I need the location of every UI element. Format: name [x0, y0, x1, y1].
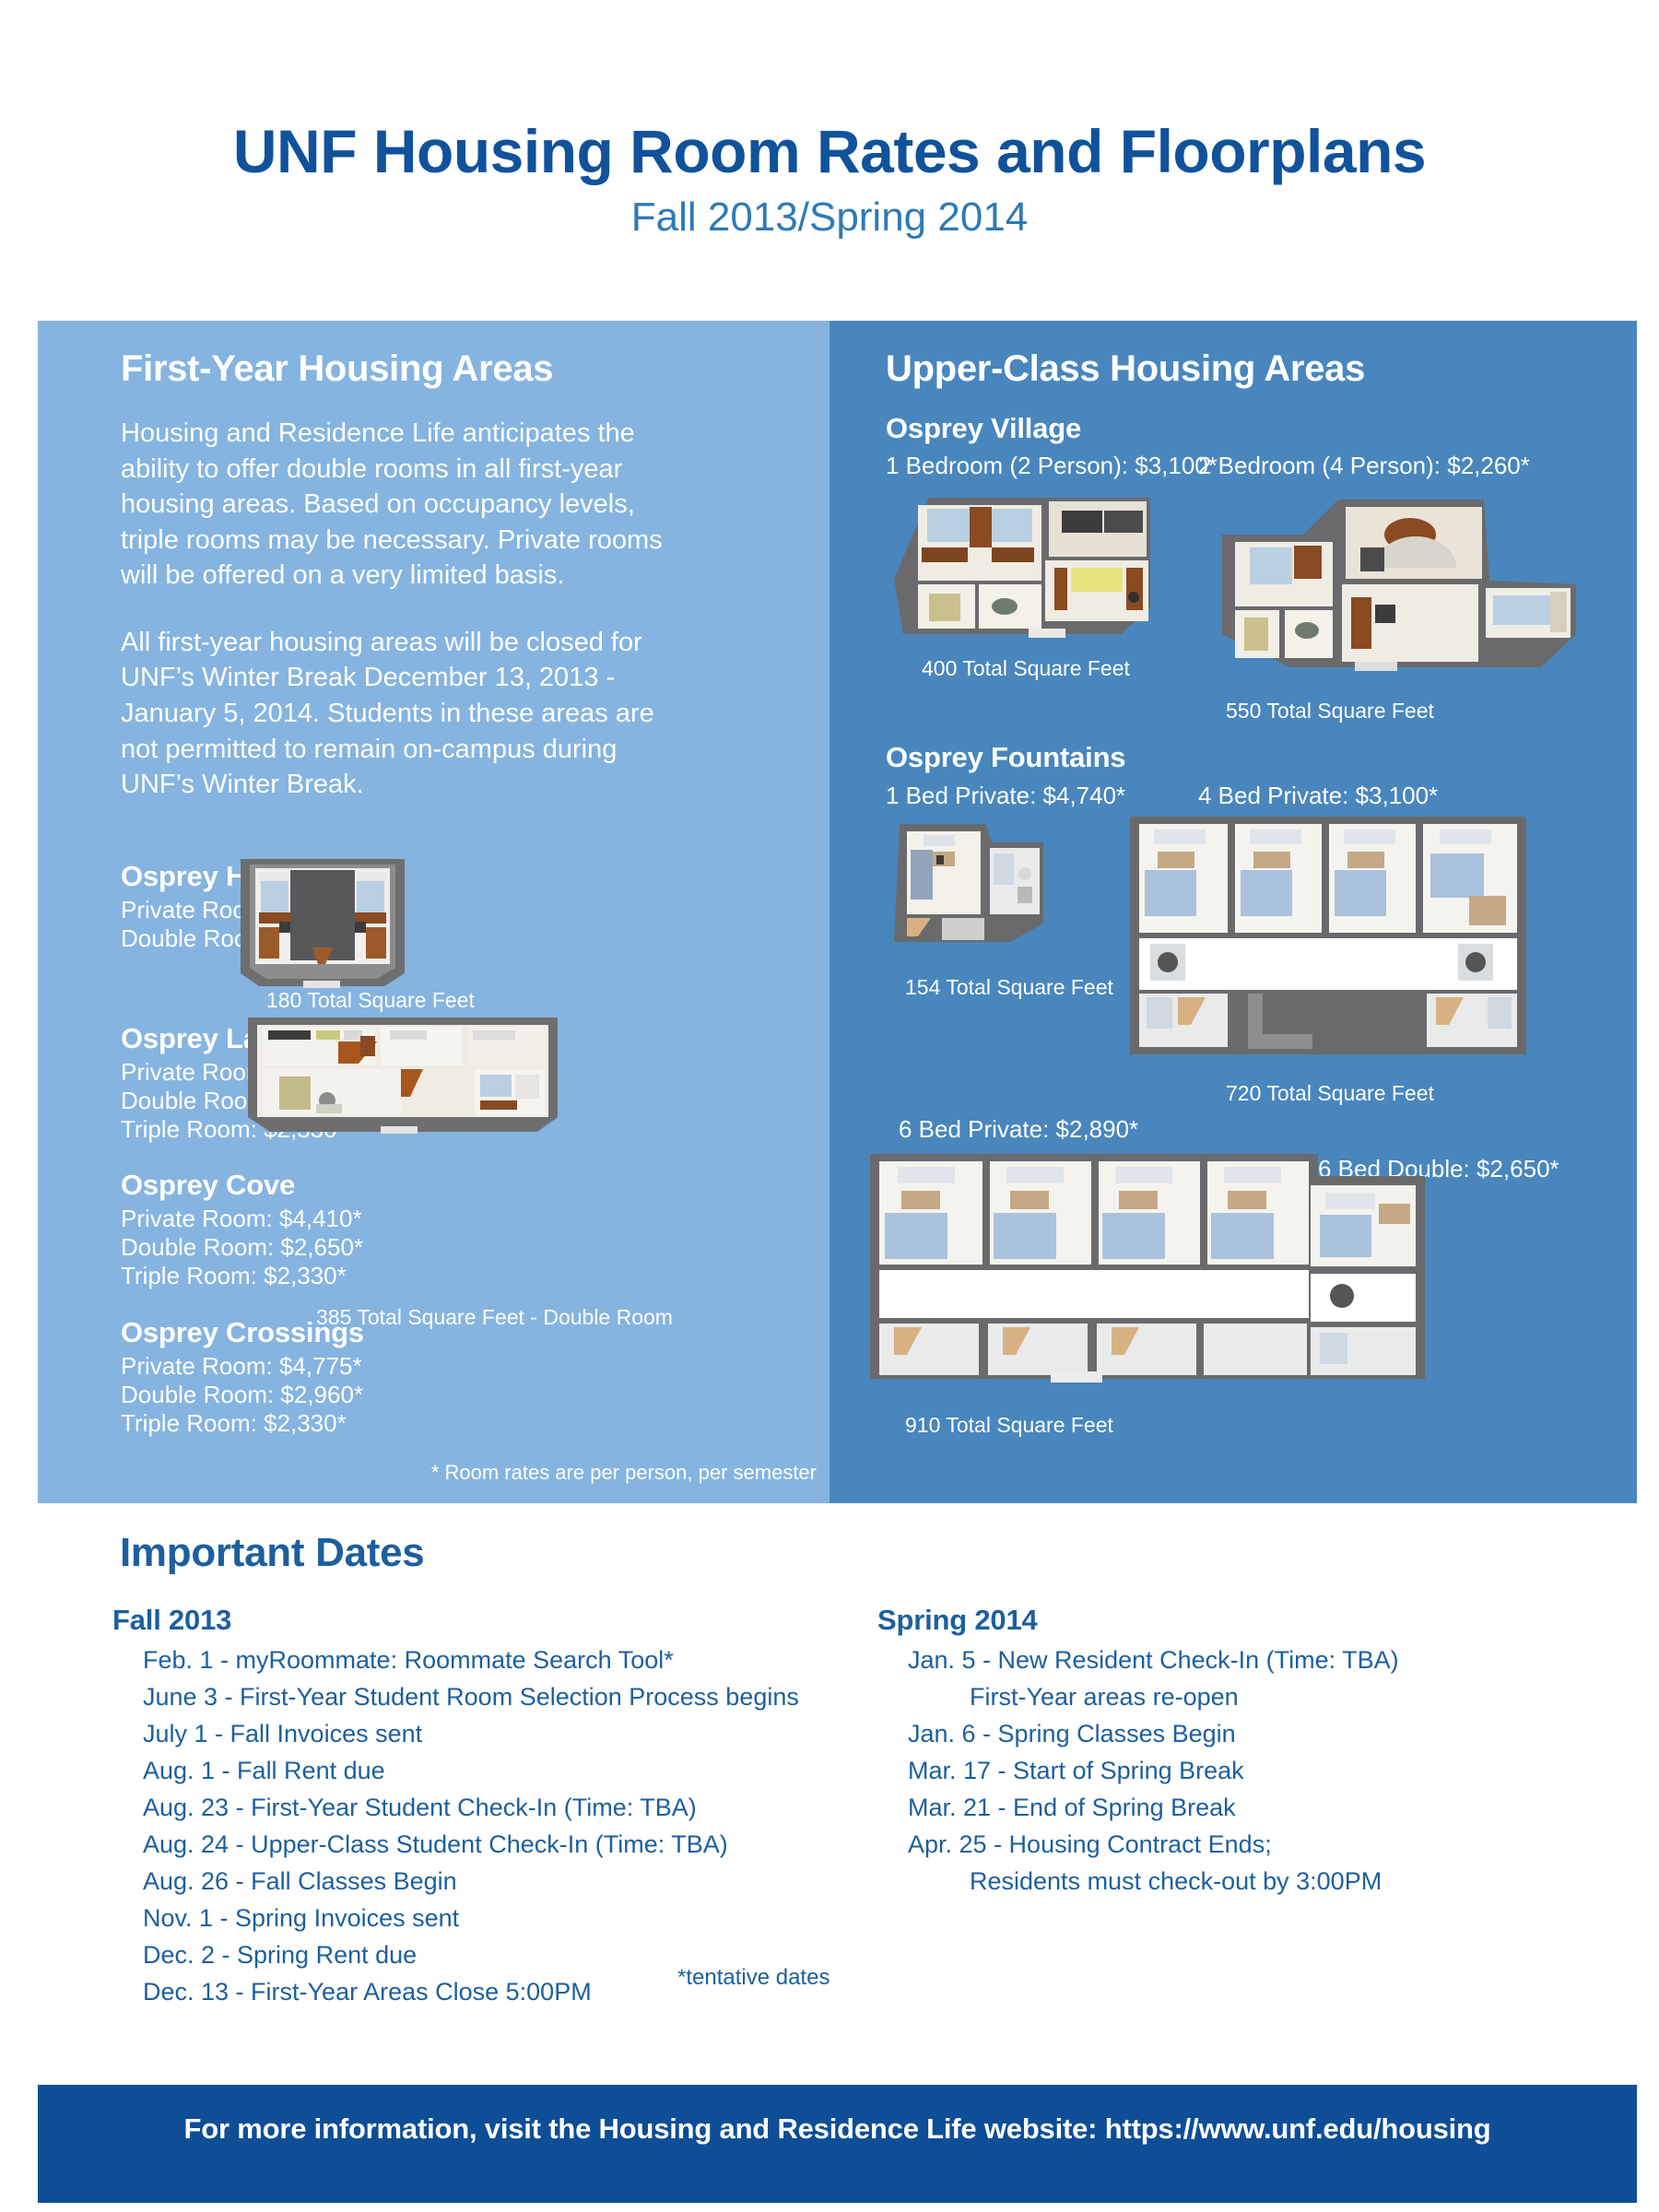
price-label-fountains-4bed: 4 Bed Private: $3,100*	[1198, 782, 1438, 810]
sqft-label-fountains-4bed: 720 Total Square Feet	[1226, 1081, 1434, 1106]
fall-dates-column: Fall 2013 Feb. 1 - myRoommate: Roommate …	[112, 1604, 841, 2011]
page-title: UNF Housing Room Rates and Floorplans	[0, 120, 1659, 183]
date-item: July 1 - Fall Invoices sent	[112, 1716, 841, 1753]
date-item: June 3 - First-Year Student Room Selecti…	[112, 1679, 841, 1716]
sqft-label-fountains-6bed: 910 Total Square Feet	[905, 1413, 1113, 1438]
sqft-label-fountains-1bed: 154 Total Square Feet	[905, 975, 1113, 1000]
date-item: Jan. 5 - New Resident Check-In (Time: TB…	[877, 1642, 1523, 1679]
price-label-village-2br: 2 Bedroom (4 Person): $2,260*	[1198, 452, 1530, 480]
date-item: Aug. 23 - First-Year Student Check-In (T…	[112, 1790, 841, 1827]
upper-class-heading: Upper-Class Housing Areas	[886, 348, 1365, 390]
first-year-panel: First-Year Housing Areas Housing and Res…	[38, 321, 829, 1503]
footer-bar: For more information, visit the Housing …	[38, 2085, 1637, 2203]
area-name: Osprey Cove	[121, 1169, 363, 1202]
footer-website-text[interactable]: For more information, visit the Housing …	[38, 2112, 1637, 2146]
floorplan-fountains-1bed	[890, 820, 1056, 959]
price-label-fountains-1bed: 1 Bed Private: $4,740*	[886, 782, 1125, 810]
sqft-label-osprey-landing: 385 Total Square Feet - Double Room	[316, 1305, 673, 1330]
area-rate: Triple Room: $2,330*	[121, 1262, 363, 1290]
date-item: First-Year areas re-open	[877, 1679, 1523, 1716]
floorplan-fountains-6bed	[866, 1150, 1429, 1405]
first-year-paragraph-2: All first-year housing areas will be clo…	[121, 625, 692, 803]
sqft-label-village-1br: 400 Total Square Feet	[922, 656, 1130, 681]
date-item: Aug. 26 - Fall Classes Begin	[112, 1864, 841, 1900]
area-name: Osprey Crossings	[121, 1316, 364, 1349]
rates-footnote: * Room rates are per person, per semeste…	[431, 1461, 817, 1485]
sqft-label-osprey-hall: 180 Total Square Feet	[266, 988, 475, 1013]
first-year-intro: Housing and Residence Life anticipates t…	[121, 416, 692, 803]
page-header: UNF Housing Room Rates and Floorplans Fa…	[0, 120, 1659, 239]
floorplan-fountains-4bed	[1126, 813, 1530, 1062]
first-year-heading: First-Year Housing Areas	[121, 348, 553, 390]
date-item: Mar. 21 - End of Spring Break	[877, 1790, 1523, 1827]
date-item: Nov. 1 - Spring Invoices sent	[112, 1900, 841, 1937]
date-item: Apr. 25 - Housing Contract Ends;	[877, 1827, 1523, 1864]
date-item: Mar. 17 - Start of Spring Break	[877, 1753, 1523, 1790]
floorplan-osprey-hall	[237, 852, 408, 992]
spring-term-title: Spring 2014	[877, 1604, 1523, 1637]
spring-dates-column: Spring 2014 Jan. 5 - New Resident Check-…	[877, 1604, 1523, 1900]
area-rate: Private Room: $4,775*	[121, 1352, 364, 1381]
date-item: Jan. 6 - Spring Classes Begin	[877, 1716, 1523, 1753]
date-item: Residents must check-out by 3:00PM	[877, 1864, 1523, 1900]
floorplan-osprey-landing	[242, 1014, 563, 1137]
date-item: Aug. 24 - Upper-Class Student Check-In (…	[112, 1827, 841, 1864]
date-item: Aug. 1 - Fall Rent due	[112, 1753, 841, 1790]
page-subtitle: Fall 2013/Spring 2014	[0, 196, 1659, 239]
housing-panels: First-Year Housing Areas Housing and Res…	[38, 321, 1637, 1503]
upper-class-panel: Upper-Class Housing Areas Osprey Village…	[829, 321, 1637, 1503]
floorplan-village-2br	[1180, 496, 1585, 686]
area-rate: Double Room: $2,650*	[121, 1233, 363, 1262]
tentative-dates-note: *tentative dates	[677, 1965, 829, 1991]
fall-term-title: Fall 2013	[112, 1604, 841, 1637]
floorplan-village-1br	[890, 494, 1158, 641]
area-rate: Double Room: $2,960*	[121, 1381, 364, 1409]
important-dates-title: Important Dates	[120, 1530, 424, 1576]
price-label-fountains-6bed-private: 6 Bed Private: $2,890*	[899, 1115, 1138, 1144]
community-name-osprey-village: Osprey Village	[886, 412, 1081, 445]
sqft-label-village-2br: 550 Total Square Feet	[1226, 699, 1434, 724]
first-year-paragraph-1: Housing and Residence Life anticipates t…	[121, 416, 692, 594]
date-item: Feb. 1 - myRoommate: Roommate Search Too…	[112, 1642, 841, 1679]
community-name-osprey-fountains: Osprey Fountains	[886, 741, 1125, 774]
area-osprey-cove: Osprey Cove Private Room: $4,410* Double…	[121, 1169, 363, 1291]
area-rate: Private Room: $4,410*	[121, 1205, 363, 1233]
area-osprey-crossings: Osprey Crossings Private Room: $4,775* D…	[121, 1316, 364, 1439]
area-rate: Triple Room: $2,330*	[121, 1409, 364, 1438]
price-label-village-1br: 1 Bedroom (2 Person): $3,100*	[886, 452, 1218, 480]
important-dates-section: Important Dates Fall 2013 Feb. 1 - myRoo…	[0, 1530, 1659, 2046]
